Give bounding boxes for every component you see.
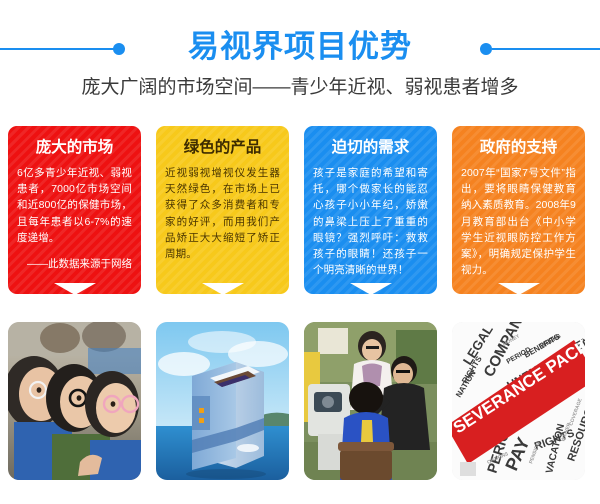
card-body: 近视弱视增视仪发生器天然绿色，在市场上已获得了众多消费者和专家的好评，而用我们产… (165, 165, 280, 262)
advantage-card-government: 政府的支持 2007年“国家7号文件”指出，要将眼睛保健教育纳入素质教育。200… (452, 126, 585, 294)
photo-strip: LEGAL COMPANY RIGHTS NATION UNEMPLOYMENT… (0, 322, 600, 494)
advantage-card-product: 绿色的产品 近视弱视增视仪发生器天然绿色，在市场上已获得了众多消费者和专家的好评… (156, 126, 289, 294)
advantage-card-demand: 迫切的需求 孩子是家庭的希望和寄托，哪个做家长的能忍心孩子小小年纪，娇嫩的鼻梁上… (304, 126, 437, 294)
card-title: 迫切的需求 (313, 137, 428, 158)
photo-word-cloud: LEGAL COMPANY RIGHTS NATION UNEMPLOYMENT… (452, 322, 585, 480)
page-title: 易视界项目优势 (0, 25, 600, 69)
card-body: 孩子是家庭的希望和寄托，哪个做家长的能忍心孩子小小年纪，娇嫩的鼻梁上压上了重重的… (313, 165, 428, 278)
advantage-card-market: 庞大的市场 6亿多青少年近视、弱视患者，7000亿市场空间和近800亿的保健市场… (8, 126, 141, 294)
header-rule-right (492, 48, 600, 50)
photo-students-classroom (8, 322, 141, 480)
photo-eye-exam (304, 322, 437, 480)
card-title: 庞大的市场 (17, 137, 132, 158)
photo-vision-device (156, 322, 289, 480)
advantage-cards: 庞大的市场 6亿多青少年近视、弱视患者，7000亿市场空间和近800亿的保健市场… (0, 126, 600, 306)
header: 易视界项目优势 庞大广阔的市场空间——青少年近视、弱视患者增多 (0, 0, 600, 112)
header-dot-right (480, 43, 492, 55)
title-row: 易视界项目优势 (0, 28, 600, 70)
page-subtitle: 庞大广阔的市场空间——青少年近视、弱视患者增多 (0, 74, 600, 102)
card-title: 绿色的产品 (165, 137, 280, 158)
card-title: 政府的支持 (461, 137, 576, 158)
card-body: 2007年“国家7号文件”指出，要将眼睛保健教育纳入素质教育。2008年9月教育… (461, 165, 576, 278)
card-notch (498, 283, 540, 294)
card-notch (202, 283, 244, 294)
card-body: 6亿多青少年近视、弱视患者，7000亿市场空间和近800亿的保健市场，且每年患者… (17, 165, 132, 246)
card-notch (350, 283, 392, 294)
promo-graphic: 易视界项目优势 庞大广阔的市场空间——青少年近视、弱视患者增多 庞大的市场 6亿… (0, 0, 600, 504)
card-source-note: ——此数据来源于网络 (17, 256, 132, 272)
card-notch (54, 283, 96, 294)
